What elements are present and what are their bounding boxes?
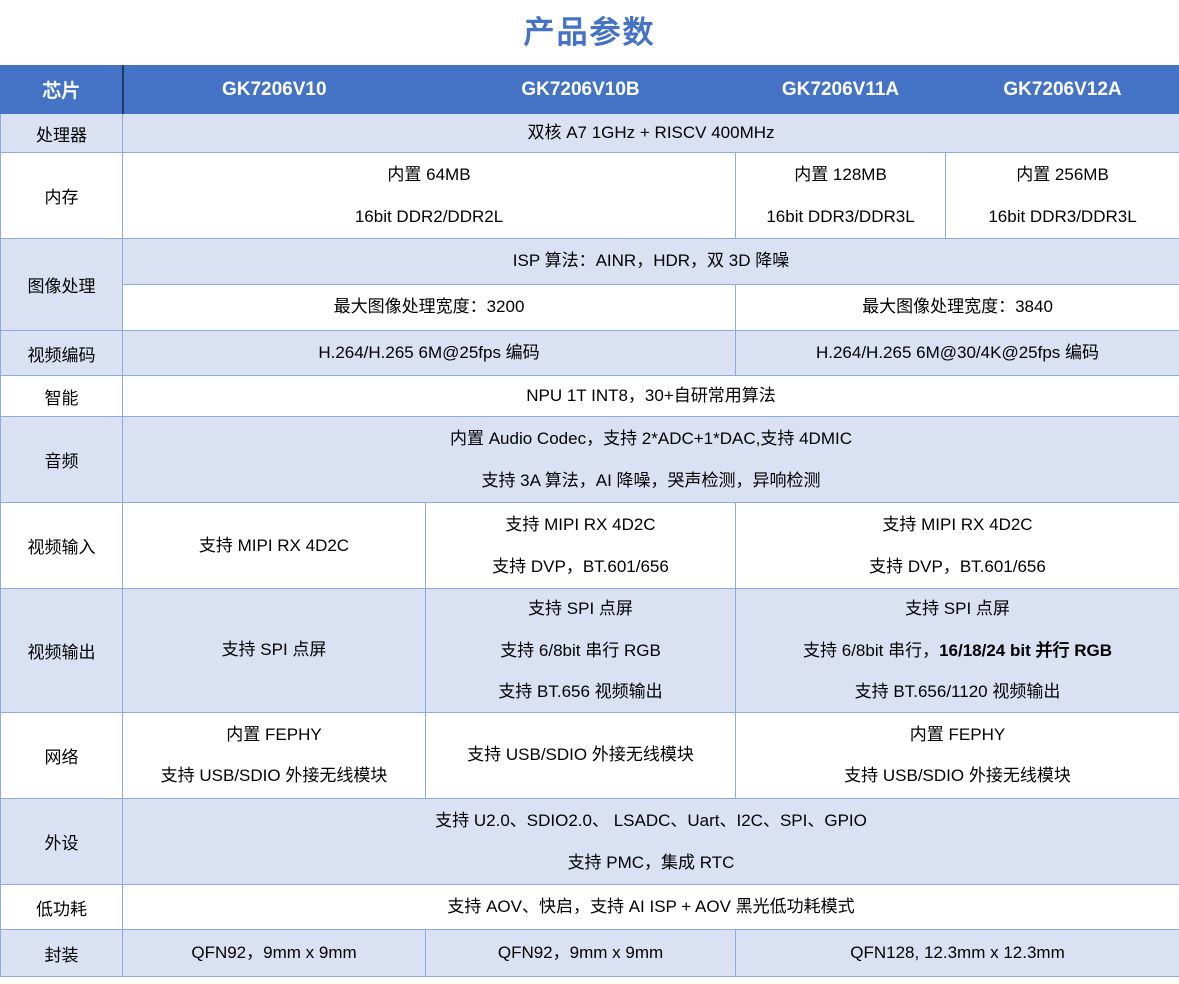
cell-video-encoding-right: H.264/H.265 6M@30/4K@25fps 编码 — [736, 331, 1179, 376]
row-label-video-output: 视频输出 — [1, 589, 123, 713]
memory-col12-line2: 16bit DDR2/DDR2L — [355, 207, 503, 227]
table-row-audio: 音频 内置 Audio Codec，支持 2*ADC+1*DAC,支持 4DMI… — [1, 417, 1179, 503]
cell-memory-col3: 内置 128MB 16bit DDR3/DDR3L — [736, 153, 946, 239]
cell-processor-all: 双核 A7 1GHz + RISCV 400MHz — [123, 114, 1179, 153]
peripherals-line2: 支持 PMC，集成 RTC — [568, 853, 735, 873]
row-label-package: 封装 — [1, 930, 123, 977]
header-col-gk7206v12a: GK7206V12A — [946, 66, 1179, 114]
row-label-peripherals: 外设 — [1, 799, 123, 885]
cell-image-processing-left: 最大图像处理宽度：3200 — [123, 285, 736, 331]
video-input-col2-line1: 支持 MIPI RX 4D2C — [505, 515, 655, 535]
table-row-peripherals: 外设 支持 U2.0、SDIO2.0、 LSADC、Uart、I2C、SPI、G… — [1, 799, 1179, 885]
cell-memory-col12: 内置 64MB 16bit DDR2/DDR2L — [123, 153, 736, 239]
table-row-memory: 内存 内置 64MB 16bit DDR2/DDR2L 内置 128MB 16b… — [1, 153, 1179, 239]
table-row-intelligence: 智能 NPU 1T INT8，30+自研常用算法 — [1, 376, 1179, 417]
cell-memory-col4: 内置 256MB 16bit DDR3/DDR3L — [946, 153, 1179, 239]
cell-video-output-col2: 支持 SPI 点屏 支持 6/8bit 串行 RGB 支持 BT.656 视频输… — [426, 589, 736, 713]
row-label-processor: 处理器 — [1, 114, 123, 153]
memory-col3-line2: 16bit DDR3/DDR3L — [766, 207, 914, 227]
row-label-video-encoding: 视频编码 — [1, 331, 123, 376]
network-col34-line1: 内置 FEPHY — [910, 725, 1005, 745]
page-title: 产品参数 — [0, 0, 1179, 48]
cell-video-input-col2: 支持 MIPI RX 4D2C 支持 DVP，BT.601/656 — [426, 503, 736, 589]
table-row-processor: 处理器 双核 A7 1GHz + RISCV 400MHz — [1, 114, 1179, 153]
cell-video-output-col1: 支持 SPI 点屏 — [123, 589, 426, 713]
video-output-col34-line2-bold: 16/18/24 bit 并行 RGB — [939, 641, 1112, 660]
row-label-image-processing: 图像处理 — [1, 239, 123, 331]
cell-video-output-col34: 支持 SPI 点屏 支持 6/8bit 串行，16/18/24 bit 并行 R… — [736, 589, 1179, 713]
peripherals-line1: 支持 U2.0、SDIO2.0、 LSADC、Uart、I2C、SPI、GPIO — [435, 811, 867, 831]
header-chip-label: 芯片 — [1, 66, 123, 114]
video-output-col34-line3: 支持 BT.656/1120 视频输出 — [855, 682, 1061, 702]
row-label-audio: 音频 — [1, 417, 123, 503]
network-col1-line2: 支持 USB/SDIO 外接无线模块 — [161, 766, 388, 786]
cell-audio-all: 内置 Audio Codec，支持 2*ADC+1*DAC,支持 4DMIC 支… — [123, 417, 1179, 503]
table-row-image-processing-1: 图像处理 ISP 算法：AINR，HDR，双 3D 降噪 — [1, 239, 1179, 285]
video-output-col34-line2: 支持 6/8bit 串行，16/18/24 bit 并行 RGB — [803, 641, 1112, 661]
row-label-network: 网络 — [1, 712, 123, 798]
video-output-col34-line2-prefix: 支持 6/8bit 串行， — [803, 641, 939, 660]
video-output-col2-line2: 支持 6/8bit 串行 RGB — [500, 641, 661, 661]
memory-col4-line2: 16bit DDR3/DDR3L — [988, 207, 1136, 227]
table-row-video-output: 视频输出 支持 SPI 点屏 支持 SPI 点屏 支持 6/8bit 串行 RG… — [1, 589, 1179, 713]
cell-package-col2: QFN92，9mm x 9mm — [426, 930, 736, 977]
cell-peripherals-all: 支持 U2.0、SDIO2.0、 LSADC、Uart、I2C、SPI、GPIO… — [123, 799, 1179, 885]
cell-package-col34: QFN128, 12.3mm x 12.3mm — [736, 930, 1179, 977]
table-row-video-encoding: 视频编码 H.264/H.265 6M@25fps 编码 H.264/H.265… — [1, 331, 1179, 376]
cell-image-processing-right: 最大图像处理宽度：3840 — [736, 285, 1179, 331]
table-row-network: 网络 内置 FEPHY 支持 USB/SDIO 外接无线模块 支持 USB/SD… — [1, 712, 1179, 798]
header-col-gk7206v11a: GK7206V11A — [736, 66, 946, 114]
row-label-intelligence: 智能 — [1, 376, 123, 417]
cell-video-encoding-left: H.264/H.265 6M@25fps 编码 — [123, 331, 736, 376]
cell-network-col34: 内置 FEPHY 支持 USB/SDIO 外接无线模块 — [736, 712, 1179, 798]
cell-low-power-all: 支持 AOV、快启，支持 AI ISP + AOV 黑光低功耗模式 — [123, 885, 1179, 930]
table-row-package: 封装 QFN92，9mm x 9mm QFN92，9mm x 9mm QFN12… — [1, 930, 1179, 977]
memory-col3-line1: 内置 128MB — [794, 165, 887, 185]
video-output-col2-line3: 支持 BT.656 视频输出 — [498, 682, 662, 702]
cell-image-processing-all: ISP 算法：AINR，HDR，双 3D 降噪 — [123, 239, 1179, 285]
header-col-gk7206v10b: GK7206V10B — [426, 66, 736, 114]
video-output-col2-line1: 支持 SPI 点屏 — [528, 599, 633, 619]
cell-network-col2: 支持 USB/SDIO 外接无线模块 — [426, 712, 736, 798]
row-label-video-input: 视频输入 — [1, 503, 123, 589]
cell-package-col1: QFN92，9mm x 9mm — [123, 930, 426, 977]
video-input-col34-line1: 支持 MIPI RX 4D2C — [882, 515, 1032, 535]
table-row-image-processing-2: 最大图像处理宽度：3200 最大图像处理宽度：3840 — [1, 285, 1179, 331]
video-input-col34-line2: 支持 DVP，BT.601/656 — [869, 557, 1046, 577]
cell-video-input-col34: 支持 MIPI RX 4D2C 支持 DVP，BT.601/656 — [736, 503, 1179, 589]
network-col34-line2: 支持 USB/SDIO 外接无线模块 — [844, 766, 1071, 786]
network-col1-line1: 内置 FEPHY — [226, 725, 321, 745]
memory-col4-line1: 内置 256MB — [1016, 165, 1109, 185]
video-output-col34-line1: 支持 SPI 点屏 — [905, 599, 1010, 619]
cell-intelligence-all: NPU 1T INT8，30+自研常用算法 — [123, 376, 1179, 417]
table-row-video-input: 视频输入 支持 MIPI RX 4D2C 支持 MIPI RX 4D2C 支持 … — [1, 503, 1179, 589]
video-input-col2-line2: 支持 DVP，BT.601/656 — [492, 557, 669, 577]
audio-line2: 支持 3A 算法，AI 降噪，哭声检测，异响检测 — [481, 471, 820, 491]
cell-network-col1: 内置 FEPHY 支持 USB/SDIO 外接无线模块 — [123, 712, 426, 798]
audio-line1: 内置 Audio Codec，支持 2*ADC+1*DAC,支持 4DMIC — [450, 429, 852, 449]
memory-col12-line1: 内置 64MB — [387, 165, 470, 185]
row-label-low-power: 低功耗 — [1, 885, 123, 930]
row-label-memory: 内存 — [1, 153, 123, 239]
cell-video-input-col1: 支持 MIPI RX 4D2C — [123, 503, 426, 589]
header-col-gk7206v10: GK7206V10 — [123, 66, 426, 114]
table-row-low-power: 低功耗 支持 AOV、快启，支持 AI ISP + AOV 黑光低功耗模式 — [1, 885, 1179, 930]
product-spec-table: 芯片 GK7206V10 GK7206V10B GK7206V11A GK720… — [0, 65, 1179, 977]
table-header-row: 芯片 GK7206V10 GK7206V10B GK7206V11A GK720… — [1, 66, 1179, 114]
